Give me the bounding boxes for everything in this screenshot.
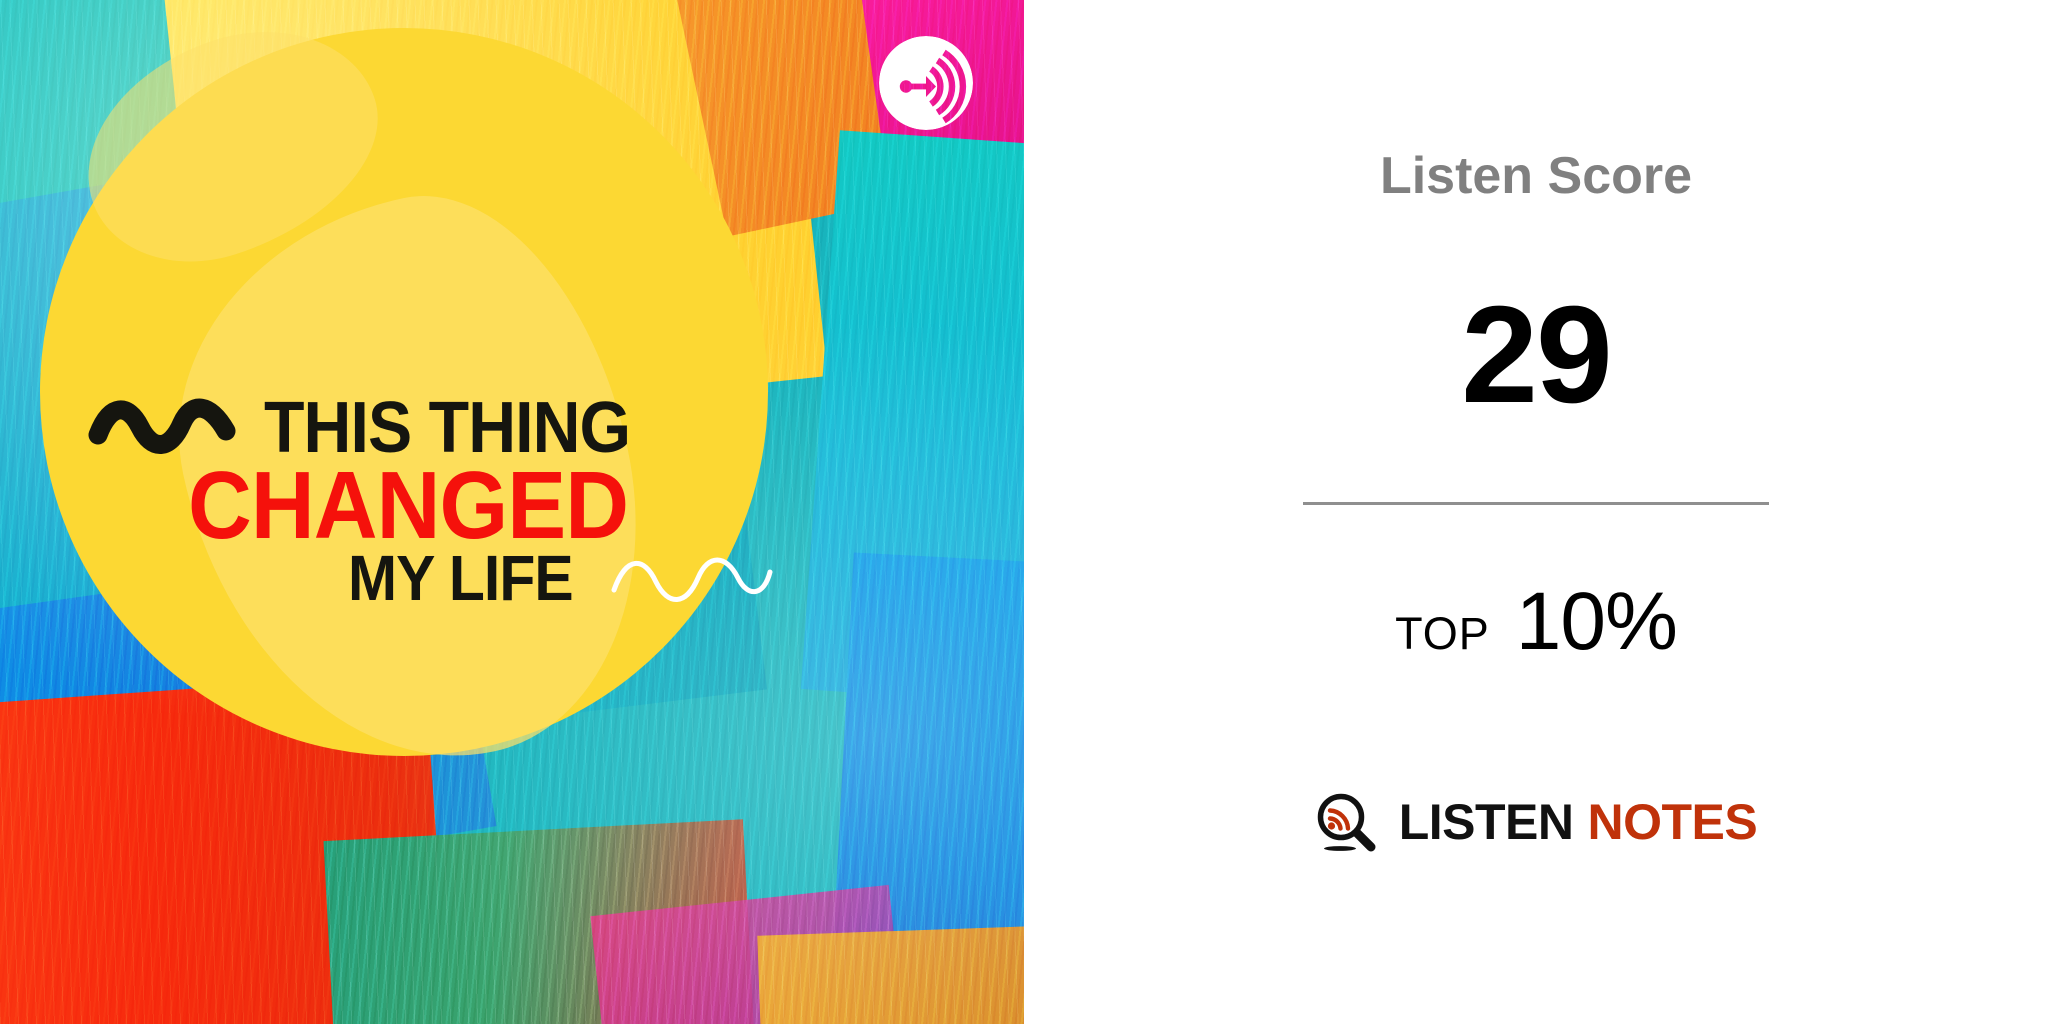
listen-score-label: Listen Score xyxy=(1380,150,1692,202)
listen-score-panel: Listen Score 29 TOP 10% LISTENNOTES xyxy=(1024,0,2048,1024)
top-percentile-row: TOP 10% xyxy=(1395,575,1677,669)
listen-score-card: THIS THING CHANGED MY LIFE Listen Score … xyxy=(0,0,2048,1024)
title-line-2: CHANGED xyxy=(188,458,628,554)
title-line-2-row: CHANGED xyxy=(0,458,900,554)
top-label: TOP xyxy=(1395,608,1490,660)
title-line-3: MY LIFE xyxy=(348,546,573,610)
listen-notes-logo[interactable]: LISTENNOTES xyxy=(1315,791,1758,853)
top-percent-value: 10% xyxy=(1516,575,1677,669)
podcast-cover-art[interactable]: THIS THING CHANGED MY LIFE xyxy=(0,0,1024,1024)
brand-word-listen: LISTEN xyxy=(1399,794,1574,850)
broadcast-antenna-icon xyxy=(879,36,973,130)
white-wave-squiggle-icon xyxy=(606,550,776,606)
cover-title-block: THIS THING CHANGED MY LIFE xyxy=(0,392,900,610)
spreaker-badge[interactable] xyxy=(879,36,973,130)
black-wave-squiggle-icon xyxy=(88,397,238,459)
listen-notes-wordmark: LISTENNOTES xyxy=(1399,797,1758,847)
magnifier-rss-icon xyxy=(1315,791,1377,853)
listen-score-value: 29 xyxy=(1461,286,1611,424)
brand-word-notes: NOTES xyxy=(1588,794,1758,850)
panel-divider xyxy=(1303,502,1769,505)
title-line-3-row: MY LIFE xyxy=(0,546,900,610)
